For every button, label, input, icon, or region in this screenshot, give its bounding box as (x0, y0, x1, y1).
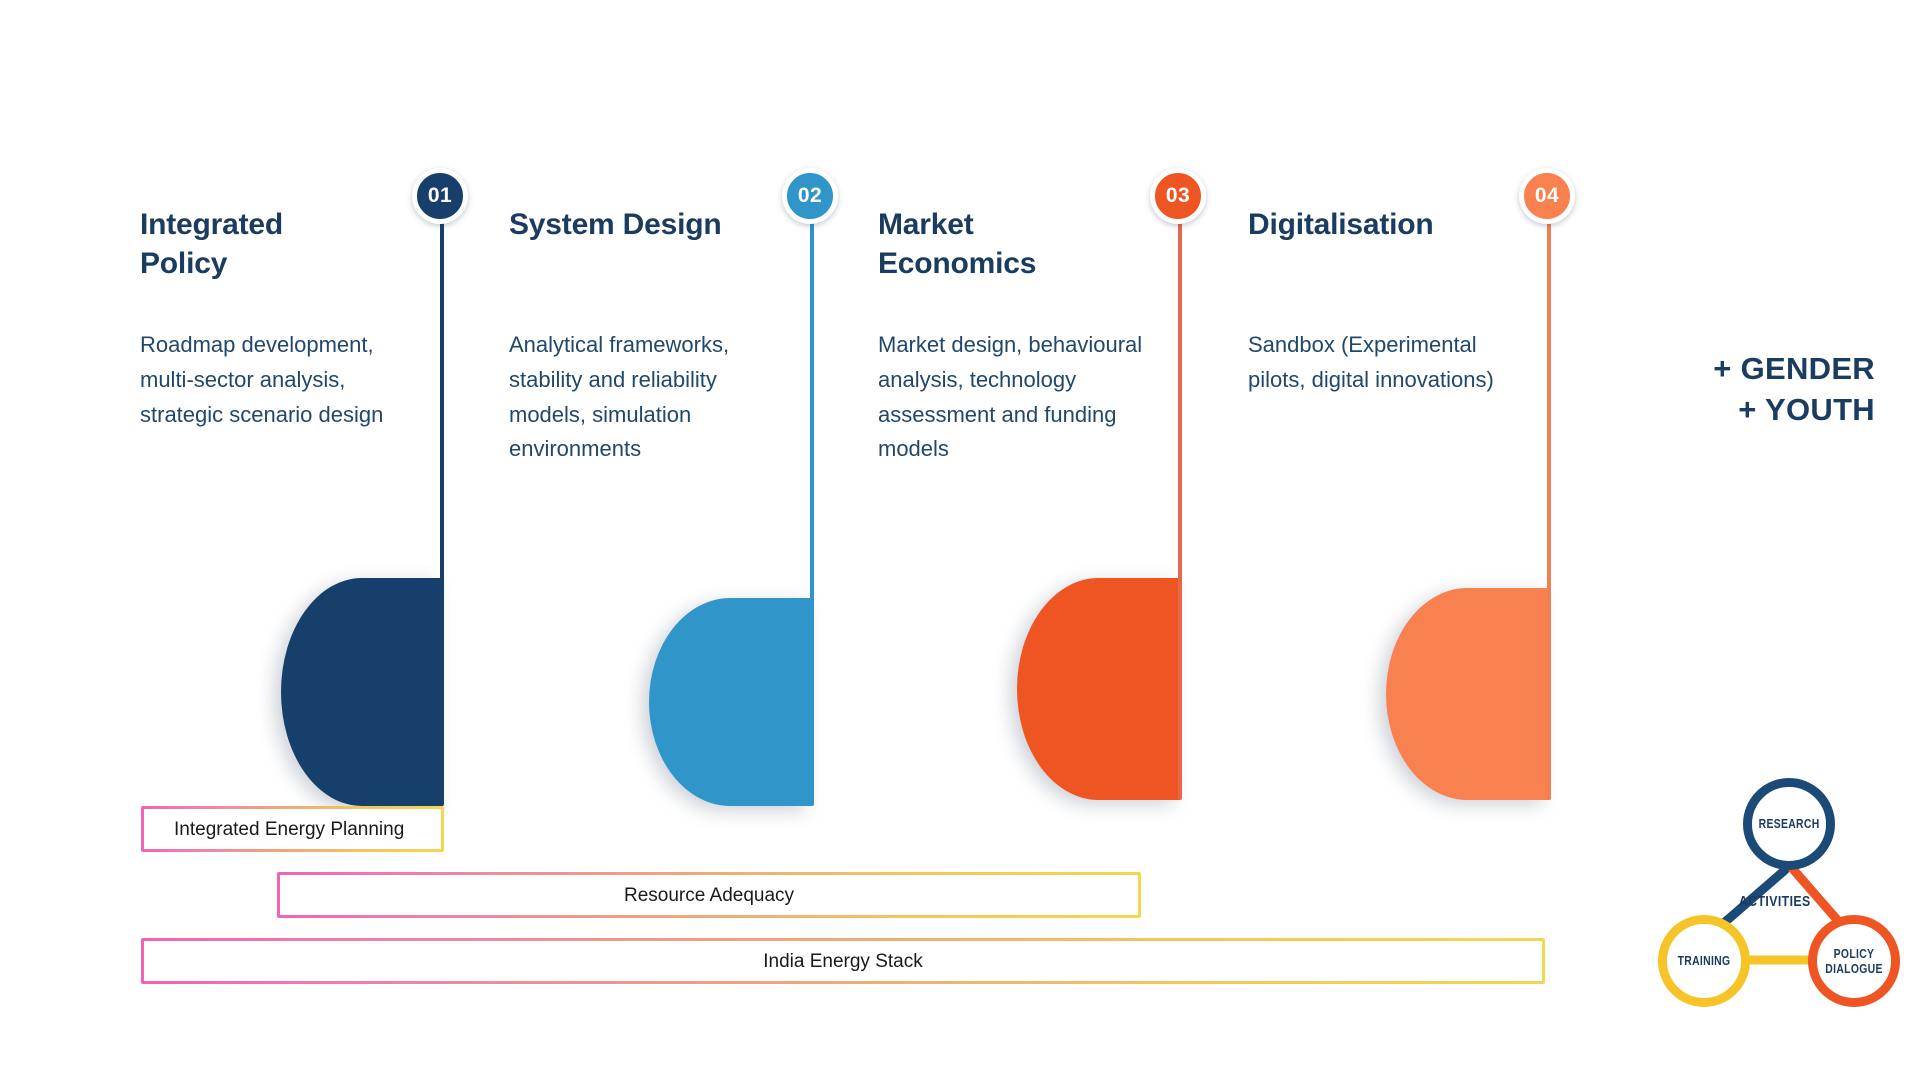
pillar-line-2 (810, 200, 814, 806)
pillar-description-4: Sandbox (Experimental pilots, digital in… (1248, 328, 1530, 398)
pillar-number-2: 02 (798, 184, 822, 208)
pillar-line-1 (440, 200, 444, 806)
programme-bar-3-label: India Energy Stack (144, 952, 1542, 971)
cross-cutting-themes: + GENDER + YOUTH (1590, 348, 1875, 430)
pillar-halfdisc-1 (281, 578, 443, 806)
activities-center-label: ACTIVITIES (1739, 893, 1811, 910)
pillar-halfdisc-2 (649, 598, 812, 806)
pillar-halfdisc-4 (1386, 588, 1549, 800)
activity-node-policy-dialogue-label: POLICY DIALOGUE (1824, 946, 1883, 977)
activity-node-research-label: RESEARCH (1759, 816, 1820, 831)
programme-bar-1-body: Integrated Energy Planning (144, 809, 441, 849)
programme-bar-1[interactable]: Integrated Energy Planning (141, 806, 444, 852)
pillar-line-4 (1547, 200, 1551, 800)
pillar-number-4: 04 (1535, 184, 1559, 208)
programme-bar-3[interactable]: India Energy Stack (141, 938, 1545, 984)
activity-node-policy-dialogue[interactable]: POLICY DIALOGUE (1808, 915, 1900, 1007)
pillar-badge-2[interactable]: 02 (782, 168, 838, 224)
programme-bar-2-label: Resource Adequacy (280, 886, 1138, 905)
pillar-halfdisc-3 (1017, 578, 1180, 800)
pillar-badge-1[interactable]: 01 (412, 168, 468, 224)
pillar-title-2: System Design (509, 205, 724, 244)
activity-node-research[interactable]: RESEARCH (1743, 778, 1835, 870)
pillar-number-1: 01 (428, 184, 452, 208)
programme-bar-2-body: Resource Adequacy (280, 875, 1138, 915)
pillar-title-4: Digitalisation (1248, 205, 1508, 244)
programme-bar-2[interactable]: Resource Adequacy (277, 872, 1141, 918)
pillar-title-3: Market Economics (878, 205, 1093, 283)
activities-diagram: RESEARCH POLICY DIALOGUE TRAINING ACTIVI… (1610, 760, 1910, 1030)
pillar-description-3: Market design, behavioural analysis, tec… (878, 328, 1166, 467)
activity-node-training-label: TRAINING (1678, 953, 1731, 968)
programme-bar-3-body: India Energy Stack (144, 941, 1542, 981)
cross-cutting-youth: + YOUTH (1590, 389, 1875, 430)
pillar-description-1: Roadmap development, multi-sector analys… (140, 328, 408, 432)
pillar-title-1: Integrated Policy (140, 205, 355, 283)
pillar-description-2: Analytical frameworks, stability and rel… (509, 328, 794, 467)
infographic-canvas: 01 Integrated Policy Roadmap development… (0, 0, 1920, 1080)
pillar-number-3: 03 (1166, 184, 1190, 208)
programme-bar-1-label: Integrated Energy Planning (144, 820, 441, 839)
activity-node-training[interactable]: TRAINING (1658, 915, 1750, 1007)
pillar-badge-4[interactable]: 04 (1519, 168, 1575, 224)
pillar-badge-3[interactable]: 03 (1150, 168, 1206, 224)
pillar-line-3 (1178, 200, 1182, 800)
cross-cutting-gender: + GENDER (1590, 348, 1875, 389)
